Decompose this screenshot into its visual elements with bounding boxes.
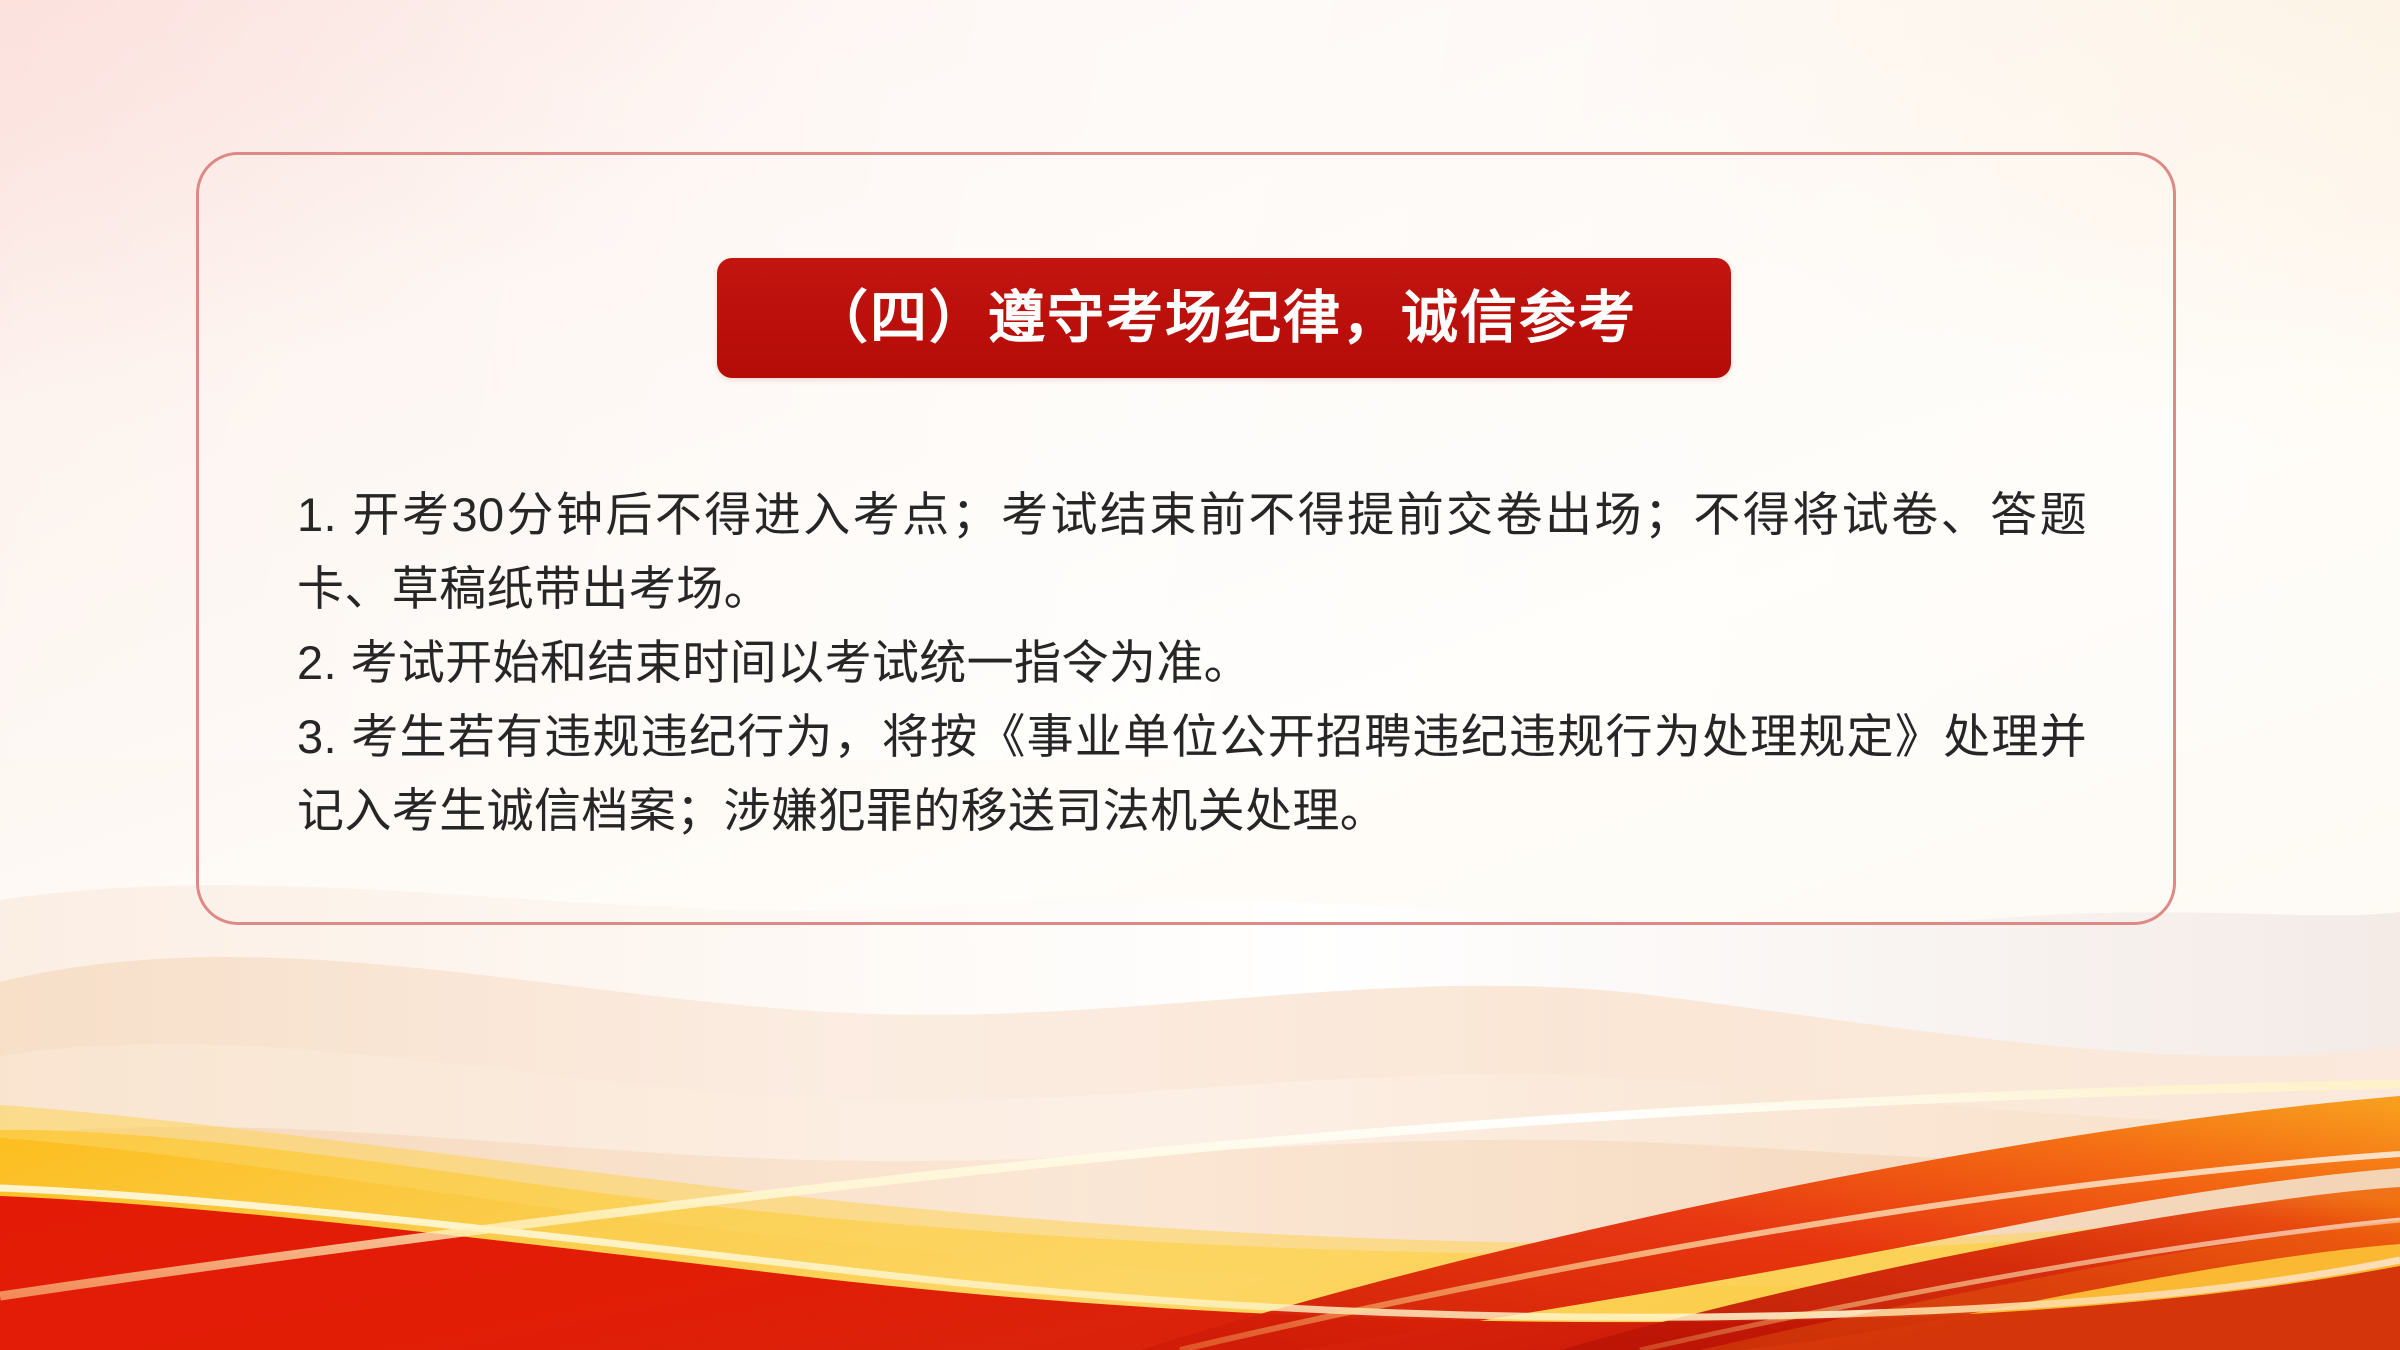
slide-canvas: （四）遵守考场纪律，诚信参考 1. 开考30分钟后不得进入考点；考试结束前不得提… — [0, 0, 2400, 1350]
body-line-2: 2. 考试开始和结束时间以考试统一指令为准。 — [297, 626, 2087, 700]
section-title-banner: （四）遵守考场纪律，诚信参考 — [717, 258, 1731, 378]
body-line-3: 3. 考生若有违规违纪行为，将按《事业单位公开招聘违纪违规行为处理规定》处理并记… — [297, 700, 2087, 848]
body-text-block: 1. 开考30分钟后不得进入考点；考试结束前不得提前交卷出场；不得将试卷、答题卡… — [297, 478, 2087, 848]
body-line-1: 1. 开考30分钟后不得进入考点；考试结束前不得提前交卷出场；不得将试卷、答题卡… — [297, 478, 2087, 626]
page-title: （四）遵守考场纪律，诚信参考 — [811, 290, 1637, 347]
